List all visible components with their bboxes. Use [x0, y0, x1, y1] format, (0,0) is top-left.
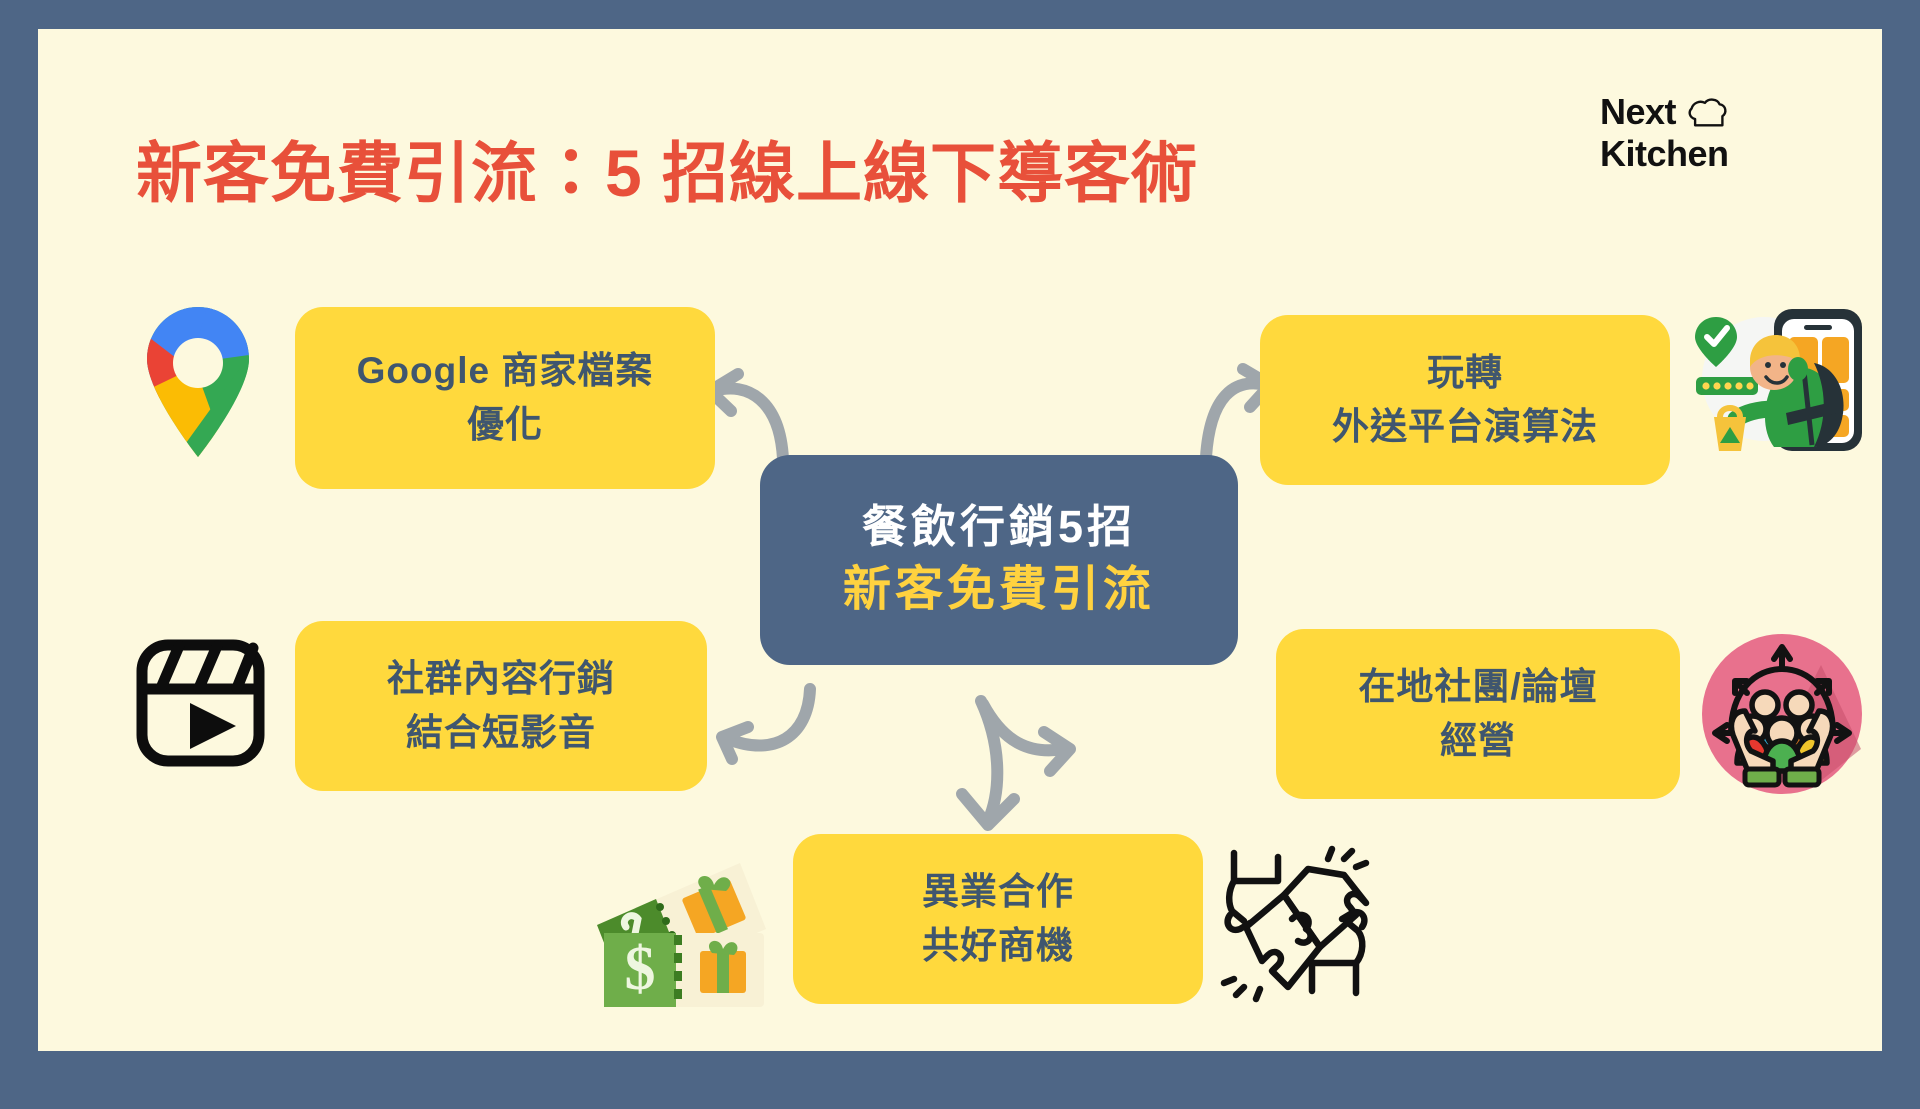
- card-delivery-algorithm[interactable]: 玩轉 外送平台演算法: [1260, 315, 1670, 485]
- poster-root: 新客免費引流：5 招線上線下導客術 Next Kitchen: [0, 0, 1920, 1080]
- logo-line1: Next: [1600, 91, 1676, 133]
- card-google-business-profile[interactable]: Google 商家檔案 優化: [295, 307, 715, 489]
- arrow-center-to-google: [710, 374, 783, 459]
- center-line-2: 新客免費引流: [843, 558, 1155, 623]
- poster-canvas: 新客免費引流：5 招線上線下導客術 Next Kitchen: [38, 29, 1882, 1051]
- card-forum-line-1: 在地社團/論壇: [1358, 660, 1597, 714]
- arrow-center-to-partner: [962, 701, 1014, 825]
- card-social-line-1: 社群內容行銷: [387, 652, 615, 706]
- arrow-center-to-forum: [983, 704, 1070, 771]
- center-badge: 餐飲行銷5招 新客免費引流: [760, 455, 1238, 665]
- card-partner-line-2: 共好商機: [922, 919, 1074, 973]
- card-social-content-marketing[interactable]: 社群內容行銷 結合短影音: [295, 621, 707, 791]
- logo-line2: Kitchen: [1600, 133, 1729, 175]
- card-local-community-forum[interactable]: 在地社團/論壇 經營: [1276, 629, 1680, 799]
- delivery-rider-phone-icon: [1686, 301, 1878, 456]
- arrow-center-to-social: [722, 689, 810, 759]
- community-hands-icon: [1693, 629, 1871, 799]
- google-maps-pin-icon: [133, 301, 263, 461]
- card-delivery-line-2: 外送平台演算法: [1332, 400, 1598, 454]
- page-title: 新客免費引流：5 招線上線下導客術: [136, 136, 1198, 212]
- card-partner-line-1: 異業合作: [922, 865, 1074, 919]
- svg-text:$: $: [625, 935, 656, 1003]
- chef-hat-cloud-icon: [1686, 97, 1728, 127]
- brand-logo: Next Kitchen: [1600, 91, 1830, 183]
- card-social-line-2: 結合短影音: [406, 706, 596, 760]
- card-google-line-1: Google 商家檔案: [357, 344, 654, 398]
- card-google-line-2: 優化: [467, 398, 543, 452]
- card-delivery-line-1: 玩轉: [1427, 346, 1503, 400]
- puzzle-handshake-icon: [1216, 841, 1376, 1003]
- reels-play-icon: [133, 629, 268, 777]
- center-line-1: 餐飲行銷5招: [862, 497, 1136, 558]
- voucher-gift-icon: $: [590, 847, 775, 1015]
- card-forum-line-2: 經營: [1440, 714, 1516, 768]
- card-cross-industry-partnership[interactable]: 異業合作 共好商機: [793, 834, 1203, 1004]
